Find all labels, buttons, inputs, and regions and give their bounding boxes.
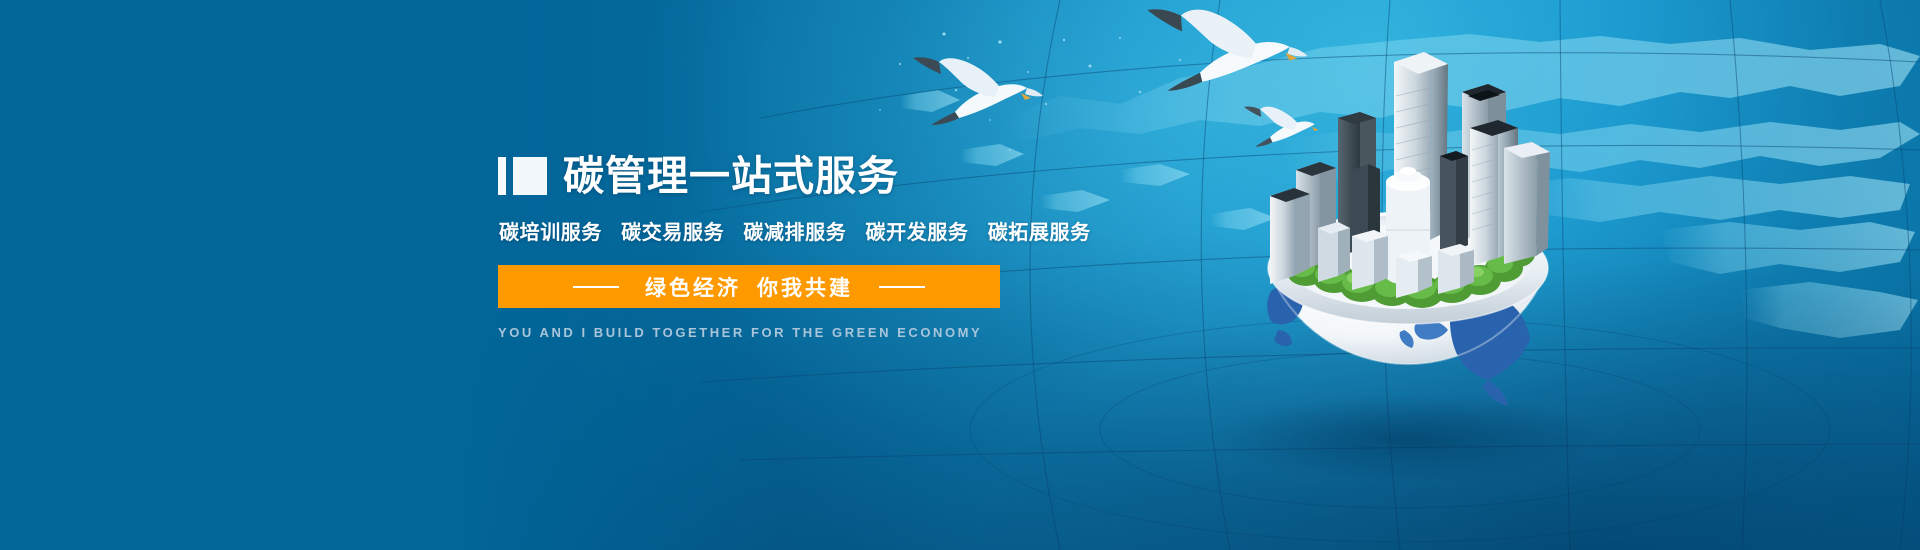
hero-banner: 碳管理一站式服务 碳培训服务 碳交易服务 碳减排服务 碳开发服务 碳拓展服务 绿…	[0, 0, 1920, 550]
slogan-text: 绿色经济你我共建	[645, 272, 853, 302]
logo-mark	[498, 157, 547, 195]
logo-square-icon	[513, 157, 547, 195]
headline-row: 碳管理一站式服务	[498, 150, 1138, 202]
services-list: 碳培训服务 碳交易服务 碳减排服务 碳开发服务 碳拓展服务	[499, 216, 1138, 245]
slogan-left-rule-icon	[573, 286, 619, 288]
slogan-right-rule-icon	[879, 286, 925, 288]
slogan-text-a: 绿色经济	[645, 277, 741, 300]
slogan-bar: 绿色经济你我共建	[498, 265, 1000, 308]
service-item-3: 碳减排服务	[743, 222, 846, 244]
logo-bar-icon	[498, 157, 506, 195]
globe-shadow	[1213, 394, 1603, 482]
service-item-4: 碳开发服务	[866, 222, 969, 244]
city-cluster	[1270, 52, 1550, 298]
service-item-2: 碳交易服务	[621, 222, 724, 244]
page-title: 碳管理一站式服务	[563, 156, 899, 197]
banner-content: 碳管理一站式服务 碳培训服务 碳交易服务 碳减排服务 碳开发服务 碳拓展服务 绿…	[498, 150, 1138, 340]
tagline: YOU AND I BUILD TOGETHER FOR THE GREEN E…	[498, 325, 1138, 340]
service-item-5: 碳拓展服务	[988, 222, 1091, 244]
service-item-1: 碳培训服务	[499, 222, 602, 244]
slogan-text-b: 你我共建	[757, 277, 853, 300]
